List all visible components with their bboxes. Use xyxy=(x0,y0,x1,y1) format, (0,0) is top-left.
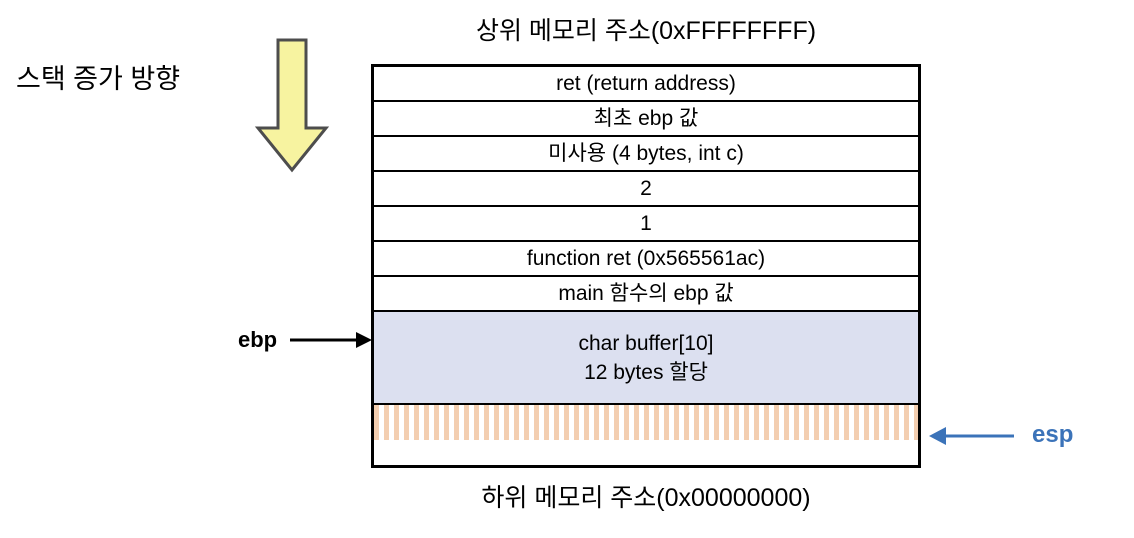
stack-row: main 함수의 ebp 값 xyxy=(374,277,918,312)
esp-pointer: esp xyxy=(928,420,1128,456)
stack-frame-diagram: 상위 메모리 주소(0xFFFFFFFF) 스택 증가 방향 ret (retu… xyxy=(0,0,1134,538)
stack-row: ret (return address) xyxy=(374,67,918,102)
stack-box: ret (return address) 최초 ebp 값 미사용 (4 byt… xyxy=(371,64,921,468)
stack-row-label: ret (return address) xyxy=(556,72,736,96)
upper-memory-address-label: 상위 메모리 주소(0xFFFFFFFF) xyxy=(371,16,921,46)
stack-buffer-block: char buffer[10] 12 bytes 할당 xyxy=(374,312,918,405)
buffer-allocation-label: 12 bytes 할당 xyxy=(584,358,708,387)
esp-arrow-left-icon xyxy=(928,424,1016,448)
stack-row: function ret (0x565561ac) xyxy=(374,242,918,277)
stack-row-label: 1 xyxy=(640,212,652,236)
ebp-label: ebp xyxy=(238,326,277,354)
stack-row: 미사용 (4 bytes, int c) xyxy=(374,137,918,172)
ebp-pointer: ebp xyxy=(238,324,373,358)
esp-label: esp xyxy=(1032,420,1073,450)
stack-row-label: main 함수의 ebp 값 xyxy=(558,282,733,306)
stack-row: 최초 ebp 값 xyxy=(374,102,918,137)
ebp-arrow-right-icon xyxy=(288,328,373,352)
stack-row-label: function ret (0x565561ac) xyxy=(527,247,765,271)
stack-hatched-strip xyxy=(374,405,918,440)
stack-growth-down-arrow-icon xyxy=(254,38,330,174)
buffer-declaration-label: char buffer[10] xyxy=(578,329,713,358)
stack-growth-direction-label: 스택 증가 방향 xyxy=(16,62,180,96)
stack-row: 2 xyxy=(374,172,918,207)
stack-row: 1 xyxy=(374,207,918,242)
stack-row-label: 2 xyxy=(640,177,652,201)
stack-row-label: 미사용 (4 bytes, int c) xyxy=(548,142,744,166)
lower-memory-address-label: 하위 메모리 주소(0x00000000) xyxy=(371,483,921,513)
stack-row-label: 최초 ebp 값 xyxy=(594,107,699,131)
